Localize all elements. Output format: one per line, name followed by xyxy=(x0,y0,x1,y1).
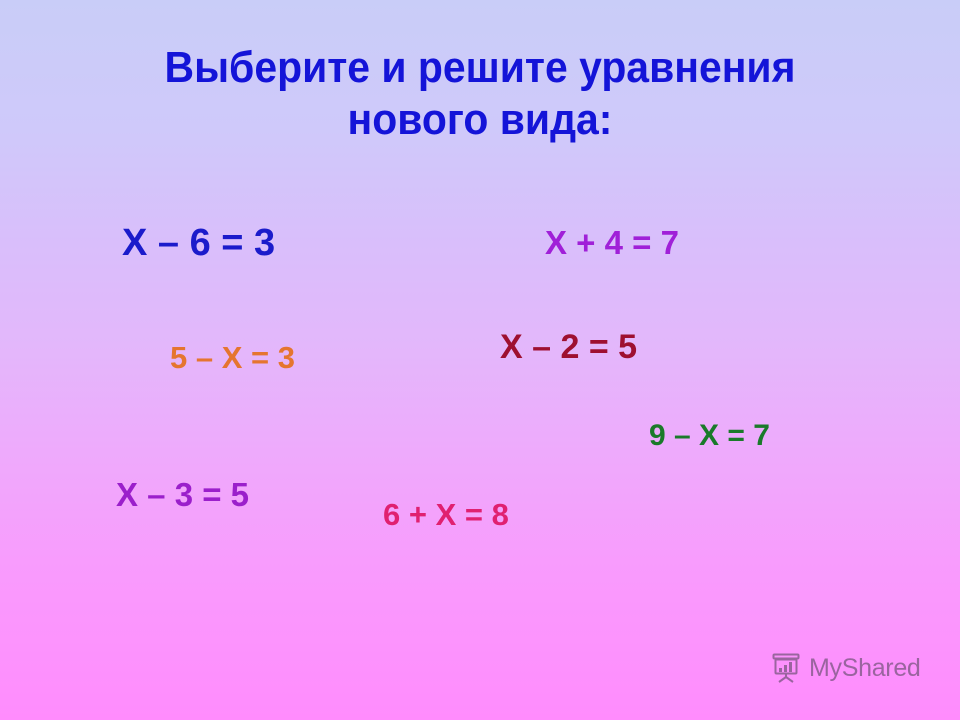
equation-item: 5 – Х = 3 xyxy=(170,342,295,373)
watermark-label: MyShared xyxy=(809,654,921,683)
presentation-board-icon xyxy=(770,652,802,684)
watermark: MyShared xyxy=(770,652,921,684)
equation-item: 9 – Х = 7 xyxy=(649,421,770,451)
equation-item: Х + 4 = 7 xyxy=(545,226,679,259)
page-title: Выберите и решите уравнения нового вида: xyxy=(34,42,927,146)
slide-canvas: Выберите и решите уравнения нового вида:… xyxy=(0,0,960,720)
equation-item: Х – 3 = 5 xyxy=(116,478,249,511)
equation-item: Х – 2 = 5 xyxy=(500,330,637,364)
equation-item: Х – 6 = 3 xyxy=(122,224,275,262)
equation-item: 6 + Х = 8 xyxy=(383,499,509,530)
